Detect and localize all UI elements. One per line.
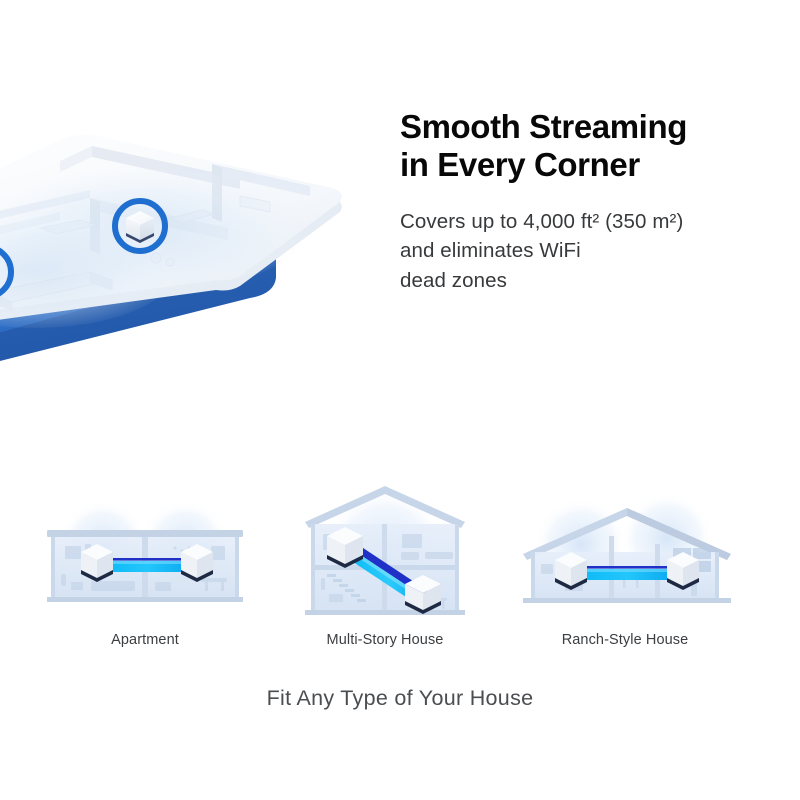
house-type-label: Multi-Story House bbox=[265, 632, 505, 648]
hero-description: Covers up to 4,000 ft² (350 m²) and elim… bbox=[400, 207, 780, 297]
house-type-label: Apartment bbox=[25, 632, 265, 648]
product-feature-page: Smooth Streaming in Every Corner Covers … bbox=[0, 0, 800, 800]
mesh-unit-badge-1 bbox=[115, 201, 165, 251]
house-type-card-ranch-style: Ranch-Style House bbox=[505, 478, 745, 664]
body-line-3: dead zones bbox=[400, 269, 507, 292]
ranch-style-illustration bbox=[505, 478, 745, 628]
mesh-unit-left bbox=[555, 552, 587, 590]
apartment-illustration bbox=[25, 478, 265, 628]
mesh-beam-horizontal bbox=[579, 566, 675, 580]
hero-copy: Smooth Streaming in Every Corner Covers … bbox=[400, 108, 780, 296]
multi-story-illustration bbox=[265, 478, 505, 628]
mesh-unit-left bbox=[81, 544, 113, 582]
page-title: Smooth Streaming in Every Corner bbox=[400, 108, 780, 185]
house-types-section: Apartment bbox=[0, 478, 800, 668]
house-type-label: Ranch-Style House bbox=[505, 632, 745, 648]
house-type-card-multi-story: Multi-Story House bbox=[265, 478, 505, 664]
house-type-card-apartment: Apartment bbox=[25, 478, 265, 664]
body-line-2: and eliminates WiFi bbox=[400, 239, 581, 262]
mesh-unit-right bbox=[181, 544, 213, 582]
hero-section: Smooth Streaming in Every Corner Covers … bbox=[0, 0, 800, 460]
mesh-beam-horizontal bbox=[103, 558, 191, 572]
hero-illustration bbox=[0, 110, 360, 450]
headline-line-2: in Every Corner bbox=[400, 146, 640, 183]
section-caption: Fit Any Type of Your House bbox=[0, 686, 800, 711]
mesh-unit-right bbox=[667, 552, 699, 590]
body-line-1: Covers up to 4,000 ft² (350 m²) bbox=[400, 210, 683, 233]
headline-line-1: Smooth Streaming bbox=[400, 108, 687, 145]
